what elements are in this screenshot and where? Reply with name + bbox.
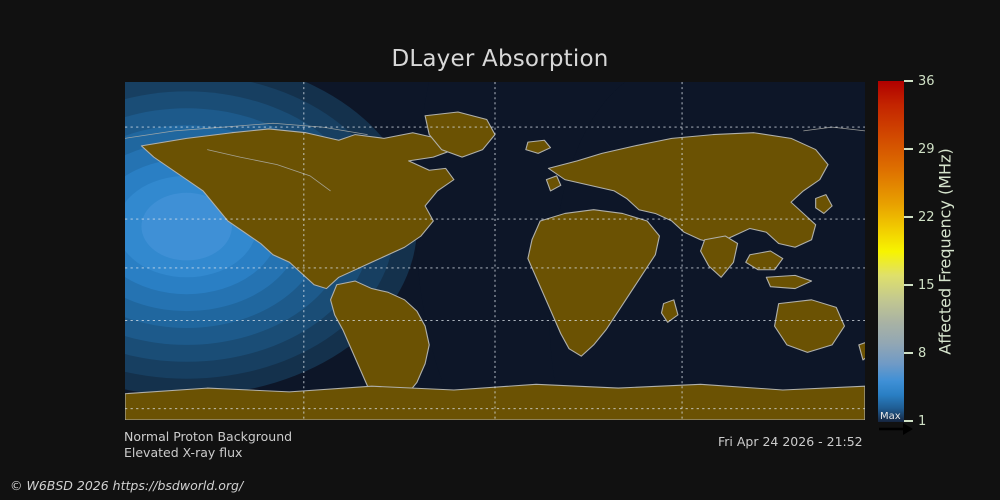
page-title: DLayer Absorption [0,46,1000,72]
status-block: Normal Proton Background Elevated X-ray … [124,429,292,461]
tick-mark [904,148,913,150]
colorbar-axis-label-text: Affected Frequency (MHz) [936,148,955,354]
status-xray: Elevated X-ray flux [124,445,292,461]
tick-mark [904,352,913,354]
timestamp: Fri Apr 24 2026 - 21:52 [718,434,863,449]
map-svg [125,82,865,420]
map-canvas [125,82,865,420]
tick-mark [904,284,913,286]
tick-label: 8 [918,347,926,360]
colorbar-axis-label: Affected Frequency (MHz) [930,81,960,422]
colorbar-tick: 8 [904,346,926,360]
copyright-notice: © W6BSD 2026 https://bsdworld.org/ [10,478,243,493]
tick-mark [904,80,913,82]
status-proton: Normal Proton Background [124,429,292,445]
tick-label: 1 [918,415,926,428]
dlayer-absorption-screen: DLayer Absorption [0,0,1000,500]
tick-mark [904,216,913,218]
world-map[interactable] [125,82,865,420]
colorbar: Max 36 29 22 15 [878,81,904,422]
tick-mark [904,420,913,422]
colorbar-tick: 1 [904,414,926,428]
colorbar-gradient [878,81,904,422]
